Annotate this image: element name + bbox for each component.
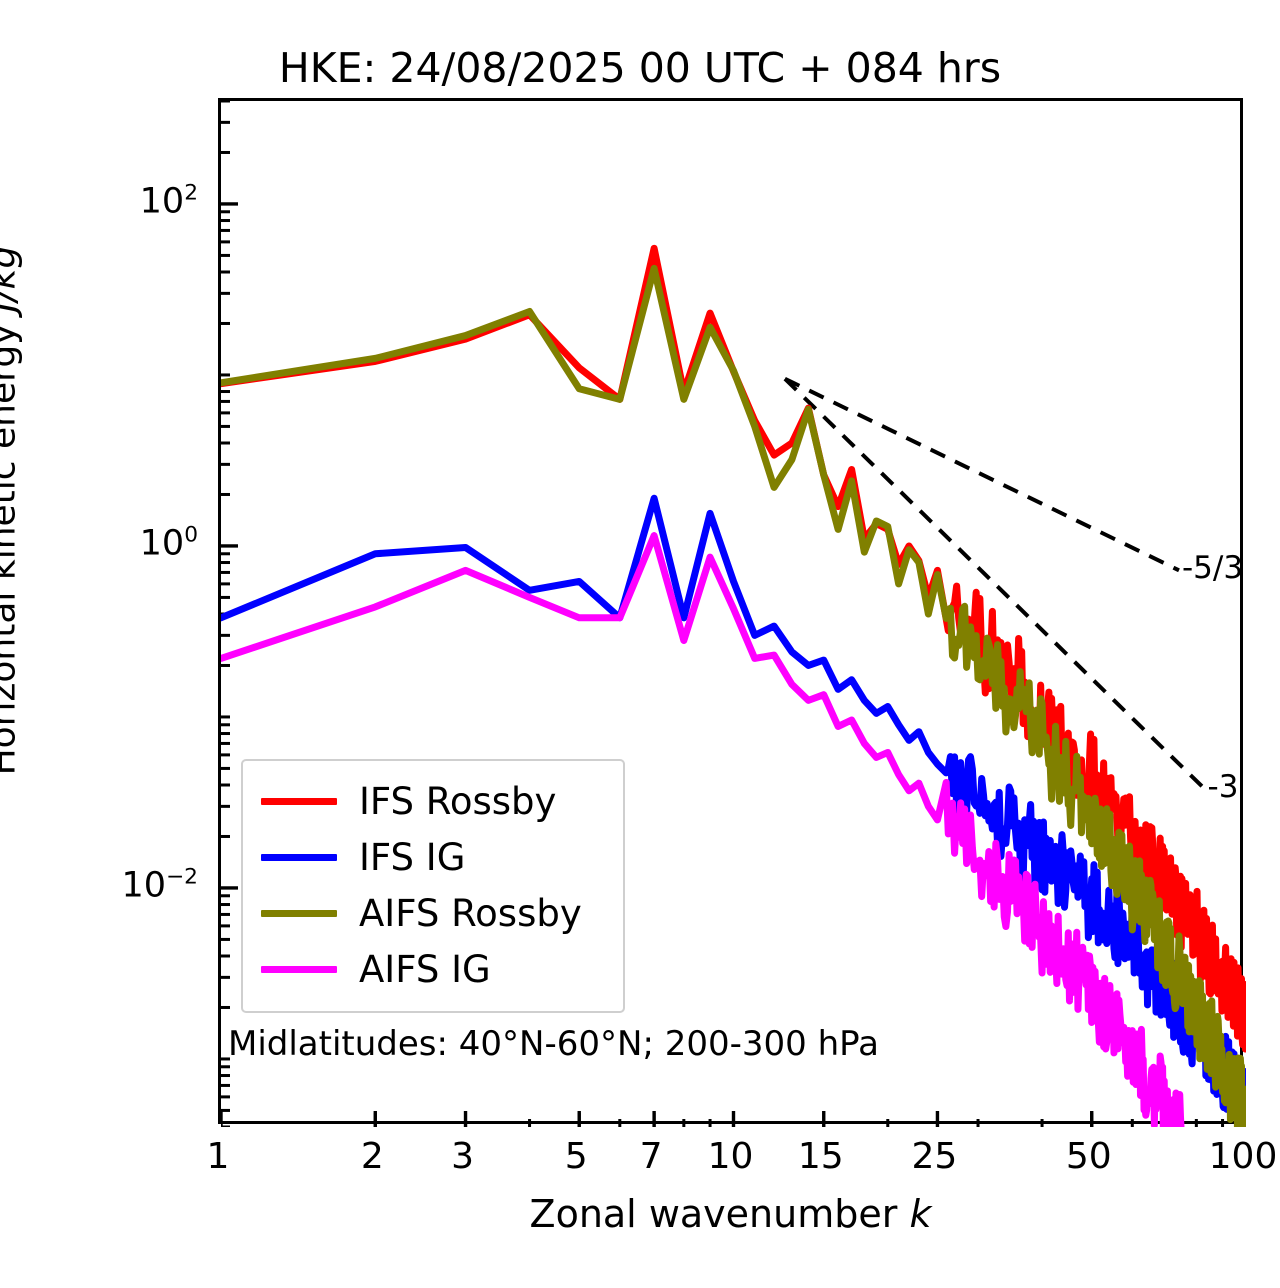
x-axis-tick-marks [221,1111,1246,1127]
y-axis-label-unit: J/kg [0,246,24,312]
x-tick-label: 2 [361,1136,384,1177]
slope-label: -3 [1208,769,1239,805]
y-axis-label-text: Horizontal kinetic energy [0,312,24,775]
legend-label: IFS IG [359,839,465,876]
x-tick-label: 10 [708,1136,754,1177]
y-tick-label: 10−2 [60,865,198,906]
legend-swatch-ifs-ig [261,854,337,861]
x-tick-label: 15 [798,1136,844,1177]
x-axis-label-var: k [909,1192,931,1236]
slope-label: -5/3 [1182,550,1243,586]
legend-item[interactable]: AIFS IG [243,941,623,997]
x-tick-label: 100 [1209,1136,1278,1177]
y-tick-label: 102 [60,181,198,222]
x-tick-label: 50 [1066,1136,1112,1177]
reference-slope-lines [785,379,1205,789]
y-axis-label: Horizontal kinetic energy J/kg [0,0,24,1024]
legend-swatch-aifs-rossby [261,910,337,917]
legend-label: IFS Rossby [359,783,556,820]
legend-label: AIFS Rossby [359,895,582,932]
region-annotation: Midlatitudes: 40°N-60°N; 200-300 hPa [228,1024,879,1064]
legend-swatch-aifs-ig [261,966,337,973]
legend: IFS Rossby IFS IG AIFS Rossby AIFS IG [241,759,625,1013]
chart-title: HKE: 24/08/2025 00 UTC + 084 hrs [0,44,1280,92]
legend-item[interactable]: AIFS Rossby [243,885,623,941]
legend-label: AIFS IG [359,951,491,988]
y-tick-label: 100 [60,523,198,564]
x-axis-label: Zonal wavenumber k [218,1192,1243,1236]
x-tick-label: 5 [565,1136,588,1177]
legend-item[interactable]: IFS IG [243,829,623,885]
legend-item[interactable]: IFS Rossby [243,773,623,829]
x-axis-label-text: Zonal wavenumber [530,1192,910,1236]
x-tick-label: 1 [207,1136,230,1177]
x-tick-label: 25 [912,1136,958,1177]
x-tick-label: 7 [640,1136,663,1177]
x-tick-label: 3 [451,1136,474,1177]
figure-canvas: HKE: 24/08/2025 00 UTC + 084 hrs Horizon… [0,0,1280,1288]
legend-swatch-ifs-rossby [261,798,337,805]
